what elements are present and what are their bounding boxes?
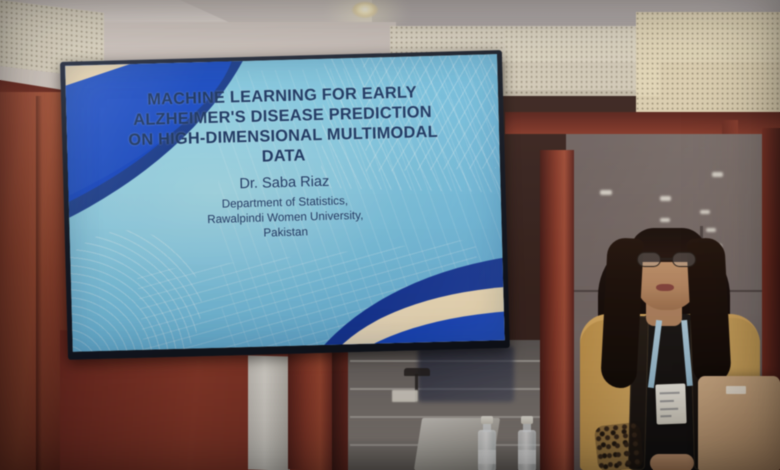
white-pillar [248, 355, 290, 470]
bottle-label [518, 450, 536, 464]
glasses-lens-right [672, 252, 696, 267]
water-bottle [478, 414, 496, 470]
light-reflection [600, 190, 612, 195]
name-badge [655, 383, 686, 424]
display-bezel: MACHINE LEARNING FOR EARLY ALZHEIMER'S D… [60, 50, 510, 360]
wood-post [288, 339, 334, 470]
acoustic-panel-center-right [505, 30, 655, 90]
glass-reflection-dark [418, 346, 514, 402]
water-bottle [518, 418, 536, 470]
hands [650, 454, 694, 470]
light-reflection [712, 172, 723, 177]
wood-rail-top-right [505, 112, 780, 134]
ceiling-downlight-icon [352, 2, 378, 18]
slide-text-block: MACHINE LEARNING FOR EARLY ALZHEIMER'S D… [66, 80, 502, 246]
wood-frame-left-of-glass [540, 150, 574, 470]
slide-title: MACHINE LEARNING FOR EARLY ALZHEIMER'S D… [92, 81, 474, 171]
conference-room-photo: MACHINE LEARNING FOR EARLY ALZHEIMER'S D… [0, 0, 780, 470]
bottle-cap [521, 416, 533, 424]
wall-sign [392, 390, 418, 402]
light-reflection [700, 210, 710, 214]
light-reflection [660, 218, 670, 222]
mouth [656, 284, 674, 291]
badge-text-line [660, 392, 680, 394]
presentation-display[interactable]: MACHINE LEARNING FOR EARLY ALZHEIMER'S D… [60, 50, 510, 360]
display-screen: MACHINE LEARNING FOR EARLY ALZHEIMER'S D… [65, 54, 505, 352]
jacket-embroidery [594, 422, 645, 470]
bottle-cap [481, 416, 493, 424]
bottle-label [478, 450, 496, 464]
badge-text-line [660, 400, 674, 402]
badge-text-line [660, 415, 671, 417]
light-reflection [660, 196, 671, 201]
glasses-icon [636, 252, 698, 267]
laptop-logo [726, 386, 746, 394]
acoustic-panel-right [636, 12, 780, 128]
glasses-lens-left [637, 252, 661, 267]
badge-text-line [660, 408, 678, 410]
